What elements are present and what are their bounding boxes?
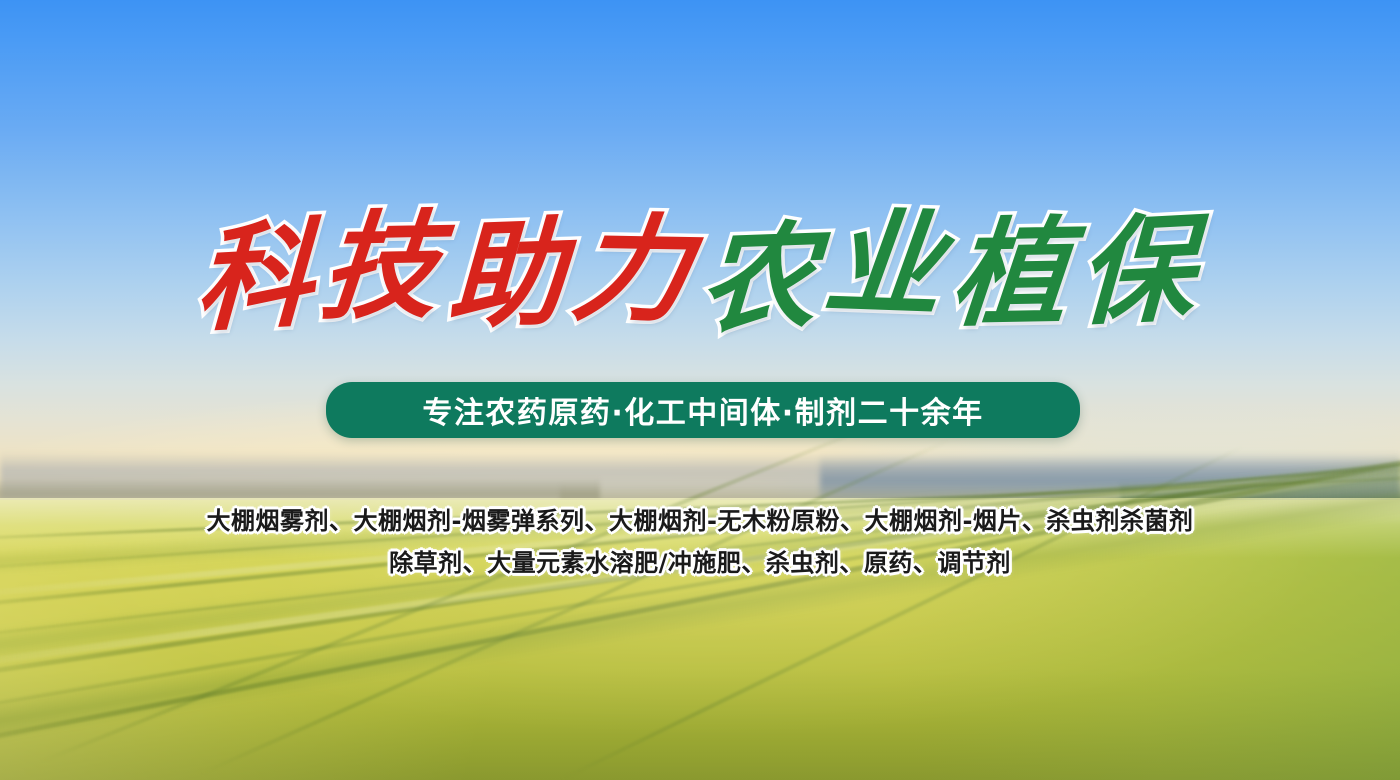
headline-char-7: 植 [946,206,1084,343]
headline: 科技助力农业植保 [0,206,1400,341]
headline-char-1: 科 [194,206,325,348]
product-line-1: 大棚烟雾剂、大棚烟剂-烟雾弹系列、大棚烟剂-无木粉原粉、大棚烟剂-烟片、杀虫剂杀… [0,500,1400,542]
headline-char-3: 助 [446,206,577,345]
product-line-2: 除草剂、大量元素水溶肥/冲施肥、杀虫剂、原药、调节剂 [0,542,1400,584]
headline-char-5: 农 [697,210,830,349]
headline-char-6: 业 [819,196,959,335]
hero-banner: 科技助力农业植保 专注农药原药·化工中间体·制剂二十余年 大棚烟雾剂、大棚烟剂-… [0,0,1400,780]
headline-char-2: 技 [316,199,454,336]
product-list: 大棚烟雾剂、大棚烟剂-烟雾弹系列、大棚烟剂-无木粉原粉、大棚烟剂-烟片、杀虫剂杀… [0,500,1400,584]
headline-char-8: 保 [1076,200,1207,342]
headline-char-4: 力 [566,202,708,338]
subtitle-text: 专注农药原药·化工中间体·制剂二十余年 [422,388,983,432]
subtitle-pill: 专注农药原药·化工中间体·制剂二十余年 [326,382,1080,438]
